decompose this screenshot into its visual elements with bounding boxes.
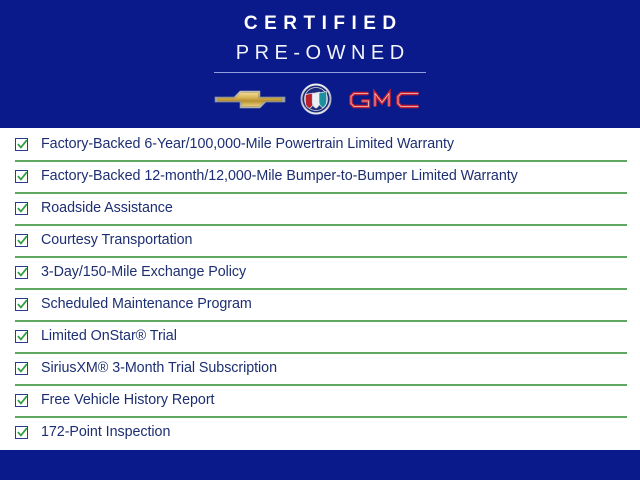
benefit-label: Factory-Backed 12-month/12,000-Mile Bump… xyxy=(41,169,518,183)
checkbox-checked-icon[interactable] xyxy=(15,138,28,151)
checkbox-checked-icon[interactable] xyxy=(15,394,28,407)
benefit-label: Free Vehicle History Report xyxy=(41,393,214,407)
page-subtitle: PRE-OWNED xyxy=(230,43,409,63)
brand-logo-row xyxy=(214,82,426,116)
benefit-row[interactable]: 172-Point Inspection xyxy=(0,416,640,448)
benefit-label: Courtesy Transportation xyxy=(41,233,192,247)
checkbox-checked-icon[interactable] xyxy=(15,266,28,279)
certified-pre-owned-panel: CERTIFIED PRE-OWNED xyxy=(0,0,640,480)
checkbox-checked-icon[interactable] xyxy=(15,362,28,375)
checkbox-checked-icon[interactable] xyxy=(15,330,28,343)
checkbox-checked-icon[interactable] xyxy=(15,298,28,311)
benefit-label: Roadside Assistance xyxy=(41,201,173,215)
benefit-label: 172-Point Inspection xyxy=(41,425,170,439)
page-title: CERTIFIED xyxy=(237,14,402,33)
benefit-label: Scheduled Maintenance Program xyxy=(41,297,252,311)
benefit-row[interactable]: Scheduled Maintenance Program xyxy=(0,288,640,320)
benefit-row[interactable]: Courtesy Transportation xyxy=(0,224,640,256)
benefit-label: SiriusXM® 3-Month Trial Subscription xyxy=(41,361,277,375)
header-divider xyxy=(214,72,426,73)
benefit-row[interactable]: Factory-Backed 6-Year/100,000-Mile Power… xyxy=(0,128,640,160)
checkbox-checked-icon[interactable] xyxy=(15,426,28,439)
checkbox-checked-icon[interactable] xyxy=(15,234,28,247)
header-banner: CERTIFIED PRE-OWNED xyxy=(0,0,640,128)
benefit-row[interactable]: Roadside Assistance xyxy=(0,192,640,224)
benefit-label: Limited OnStar® Trial xyxy=(41,329,177,343)
benefit-label: Factory-Backed 6-Year/100,000-Mile Power… xyxy=(41,137,454,151)
checkbox-checked-icon[interactable] xyxy=(15,202,28,215)
benefit-label: 3-Day/150-Mile Exchange Policy xyxy=(41,265,246,279)
benefit-row[interactable]: 3-Day/150-Mile Exchange Policy xyxy=(0,256,640,288)
benefit-row[interactable]: SiriusXM® 3-Month Trial Subscription xyxy=(0,352,640,384)
checkbox-checked-icon[interactable] xyxy=(15,170,28,183)
buick-logo xyxy=(300,83,332,115)
benefits-list: Factory-Backed 6-Year/100,000-Mile Power… xyxy=(0,128,640,450)
gmc-logo xyxy=(346,88,426,110)
chevrolet-logo xyxy=(214,86,286,112)
benefit-row[interactable]: Free Vehicle History Report xyxy=(0,384,640,416)
benefit-row[interactable]: Factory-Backed 12-month/12,000-Mile Bump… xyxy=(0,160,640,192)
benefit-row[interactable]: Limited OnStar® Trial xyxy=(0,320,640,352)
footer-bar xyxy=(0,450,640,480)
